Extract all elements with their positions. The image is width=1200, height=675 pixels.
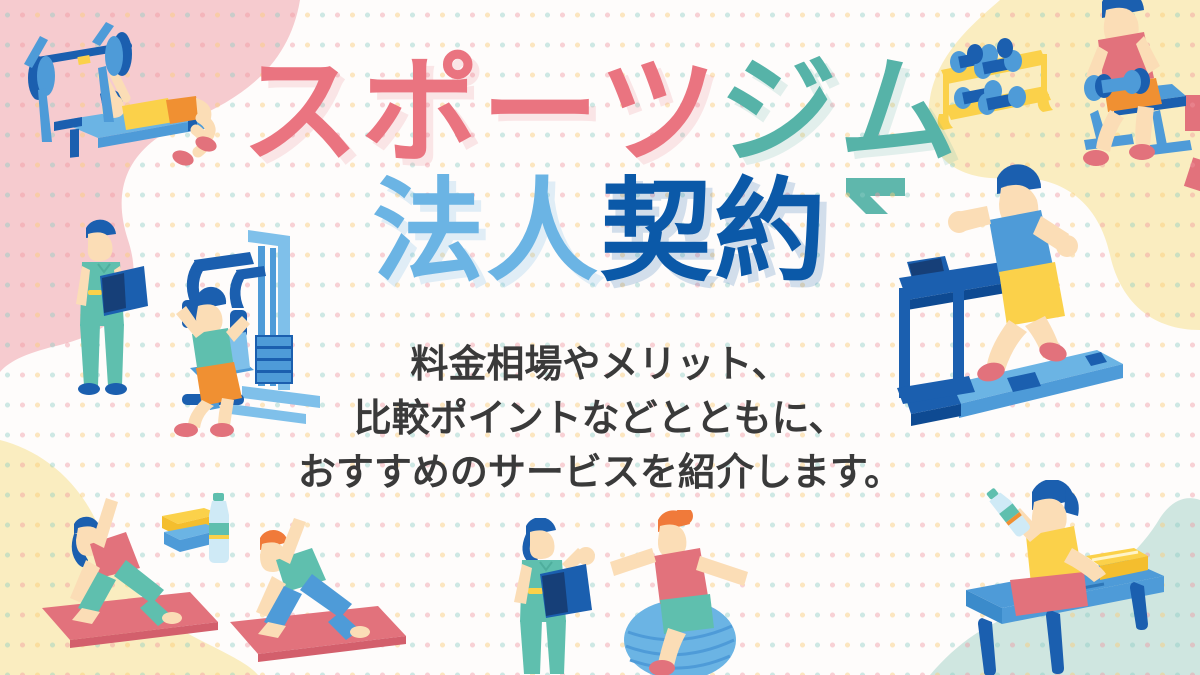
title-line-1: スポーツジム	[0, 52, 1200, 170]
title-segment-corporate: 法人	[372, 167, 600, 297]
subtitle-block: 料金相場やメリット、 比較ポイントなどとともに、 おすすめのサービスを紹介します…	[250, 338, 950, 500]
title-segment-contract: 契約	[600, 167, 828, 297]
title-segment-gym: ジム	[719, 42, 959, 180]
subtitle-line-1: 料金相場やメリット、	[250, 338, 950, 392]
balance-ball-illustration	[608, 510, 768, 675]
title-segment-sports: スポーツ	[241, 42, 719, 180]
title-block: スポーツジム 法人契約	[0, 52, 1200, 288]
subtitle-line-2: 比較ポイントなどとともに、	[250, 392, 950, 446]
subtitle-line-3: おすすめのサービスを紹介します。	[250, 446, 950, 500]
trainer-clipboard-center-illustration	[506, 518, 606, 675]
banner-canvas: スポーツジム 法人契約 料金相場やメリット、 比較ポイントなどとともに、 おすす…	[0, 0, 1200, 675]
yoga-pose-right-illustration	[214, 518, 434, 668]
title-line-2: 法人契約	[0, 176, 1200, 288]
bench-water-break-illustration	[932, 480, 1192, 675]
